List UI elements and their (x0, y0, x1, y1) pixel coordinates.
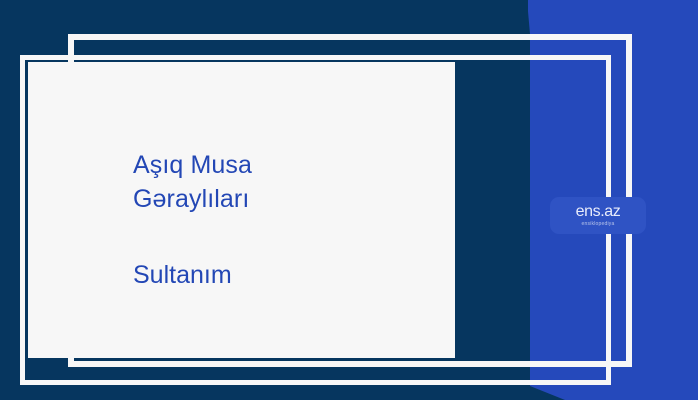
page-subtitle: Sultanım (133, 258, 443, 292)
page-title-line-1: Aşıq Musa (133, 148, 443, 182)
page-title-line-2: Gəraylıları (133, 182, 443, 216)
content-text-block: Aşıq Musa Gəraylıları Sultanım (133, 148, 443, 292)
brand-logo-badge[interactable]: ens.az ensiklopediya (550, 197, 646, 234)
content-card: Aşıq Musa Gəraylıları Sultanım (28, 62, 455, 358)
slide-canvas: Aşıq Musa Gəraylıları Sultanım ens.az en… (0, 0, 698, 400)
brand-name-label: ens.az (576, 204, 621, 220)
brand-tagline-label: ensiklopediya (582, 221, 615, 228)
